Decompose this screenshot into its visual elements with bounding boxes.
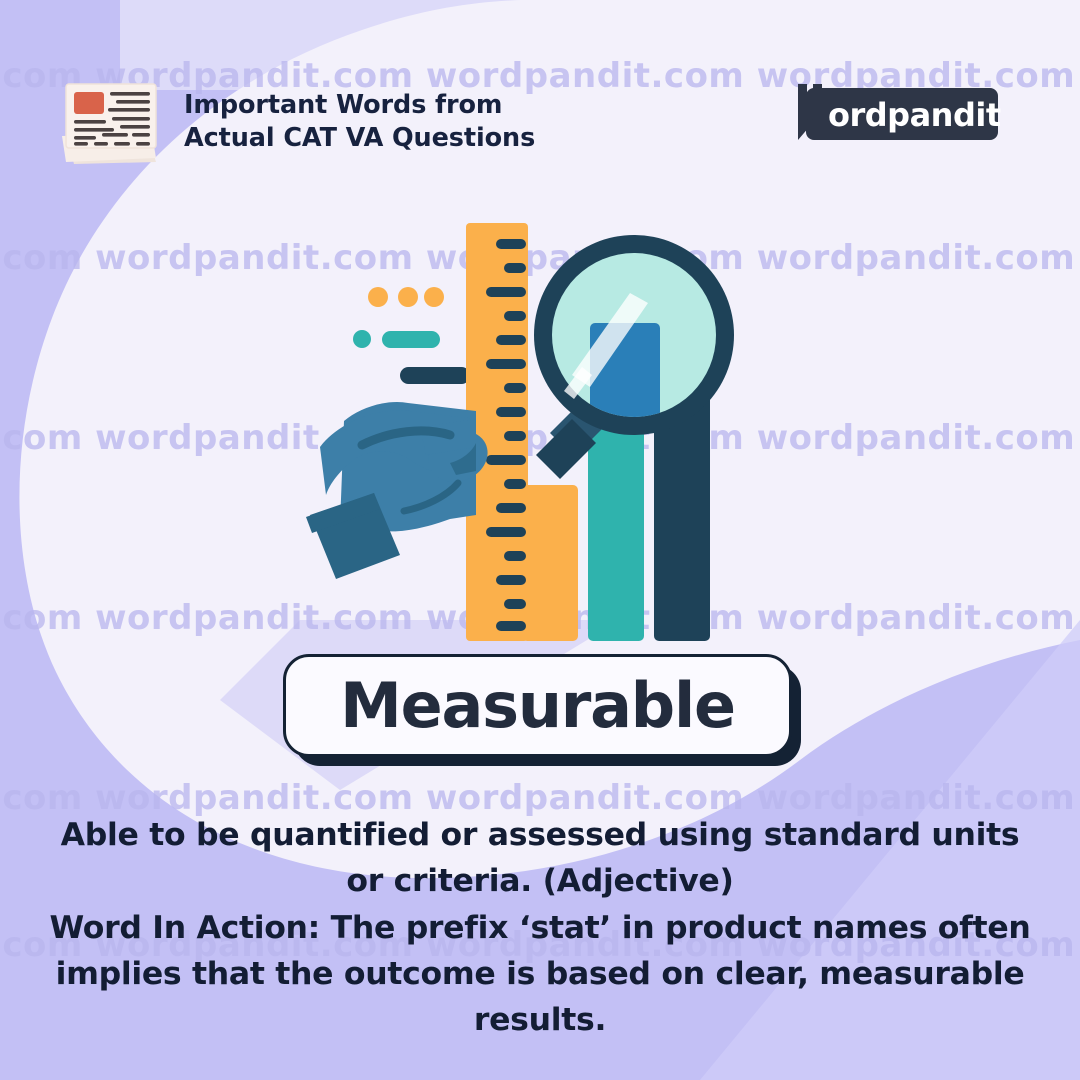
measurement-illustration — [300, 215, 760, 645]
definition-line-4: implies that the outcome is based on cle… — [24, 951, 1056, 997]
logo-text: ordpandit — [828, 96, 1001, 134]
logo-svg: ordpandit — [780, 82, 1002, 146]
decorative-dashes — [353, 330, 470, 384]
definition-line-2: or criteria. (Adjective) — [24, 858, 1056, 904]
header-title-line1: Important Words from — [184, 89, 535, 122]
decorative-dots — [368, 287, 444, 307]
definition-line-5: results. — [24, 997, 1056, 1043]
header-title: Important Words from Actual CAT VA Quest… — [184, 89, 535, 155]
word-card: Measurable — [283, 654, 801, 766]
bar-2 — [588, 428, 644, 641]
header: Important Words from Actual CAT VA Quest… — [52, 76, 535, 168]
word-term: Measurable — [340, 675, 735, 737]
wordpandit-logo[interactable]: ordpandit — [780, 82, 1002, 146]
poster-canvas: it.com wordpandit.com wordpandit.com wor… — [0, 0, 1080, 1080]
word-card-body: Measurable — [283, 654, 792, 757]
illustration-svg — [300, 215, 760, 645]
newspaper-icon — [52, 76, 170, 168]
definition-block: Able to be quantified or assessed using … — [24, 812, 1056, 1043]
definition-line-1: Able to be quantified or assessed using … — [24, 812, 1056, 858]
hand-icon — [306, 402, 488, 579]
header-title-line2: Actual CAT VA Questions — [184, 122, 535, 155]
bar-1 — [522, 485, 578, 641]
definition-line-3: Word In Action: The prefix ‘stat’ in pro… — [24, 905, 1056, 951]
